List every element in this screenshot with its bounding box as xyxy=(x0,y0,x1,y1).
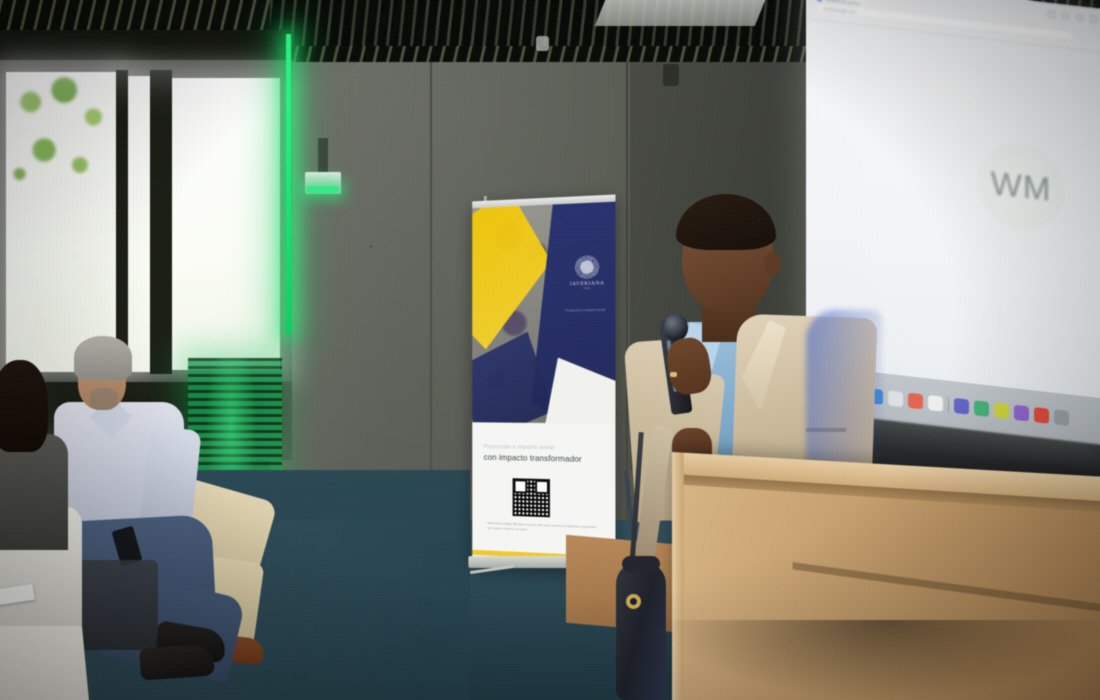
banner-headline-faint: Proyección e impacto social xyxy=(484,444,600,452)
address-bar[interactable]: meet.google.com xyxy=(816,2,1074,41)
finger-ring xyxy=(670,372,677,377)
downloads-icon[interactable] xyxy=(1062,12,1069,20)
shoulder-bag xyxy=(616,562,666,700)
audience-hair xyxy=(0,360,48,452)
rollup-banner: JAVERIANA CALI Proyección e impacto soci… xyxy=(472,194,615,569)
browser-toolbar-icons[interactable] xyxy=(1048,10,1097,23)
crest-sunburst-icon xyxy=(575,255,599,279)
address-bar-value: meet.google.com xyxy=(824,6,856,15)
menu-icon[interactable] xyxy=(1090,15,1097,23)
window-pane-middle xyxy=(128,76,150,372)
qr-code xyxy=(513,478,550,517)
banner-fineprint: Escanea el código QR para conocer más so… xyxy=(488,521,599,536)
notes-icon[interactable] xyxy=(928,394,943,411)
wall-conduit xyxy=(318,138,328,174)
window-pane-right xyxy=(172,78,280,370)
slides-icon[interactable] xyxy=(1014,404,1029,421)
banner-photo-collage: JAVERIANA CALI Proyección e impacto soci… xyxy=(472,202,615,424)
whatsapp-icon[interactable] xyxy=(994,402,1009,419)
banner-brand-sub: CALI xyxy=(583,287,590,290)
account-avatar[interactable]: WM xyxy=(978,139,1064,235)
teams-icon[interactable] xyxy=(954,397,969,414)
lectern-shadow xyxy=(660,620,1100,700)
audience-member-woman xyxy=(0,356,108,700)
avatar-initials: WM xyxy=(991,164,1052,209)
launchpad-icon[interactable] xyxy=(888,390,903,407)
ceiling-light-panel xyxy=(595,0,766,26)
green-led-accent-strip xyxy=(286,34,291,334)
chrome-icon[interactable] xyxy=(1034,407,1049,424)
browser-toolbar: Reunión de seguimiento Sistema de gestió… xyxy=(806,0,1100,53)
emergency-exit-light xyxy=(305,172,341,194)
lectern-groove xyxy=(793,562,1100,615)
gold-ring-detail xyxy=(626,594,641,609)
window-mullion xyxy=(150,70,172,374)
wall-mounted-speaker xyxy=(663,64,679,86)
profile-icon[interactable] xyxy=(1076,14,1083,22)
presenter-hair xyxy=(676,194,776,250)
tree-foliage-outside xyxy=(6,72,118,222)
window-mullion xyxy=(116,70,128,374)
dock-separator xyxy=(948,397,949,412)
settings-icon[interactable] xyxy=(1054,409,1069,426)
presenter-ear xyxy=(764,252,781,276)
extensions-icon[interactable] xyxy=(1048,10,1055,18)
drive-icon[interactable] xyxy=(974,400,989,417)
photos-icon[interactable] xyxy=(908,392,923,409)
conference-photo-scene: Reunión de seguimiento Sistema de gestió… xyxy=(0,0,1100,700)
bag-top-flap xyxy=(622,556,660,572)
banner-headline: con impacto transformador xyxy=(484,453,605,464)
javeriana-ihs-crest: JAVERIANA CALI xyxy=(571,255,603,290)
ceiling-sensor-icon xyxy=(536,36,549,51)
